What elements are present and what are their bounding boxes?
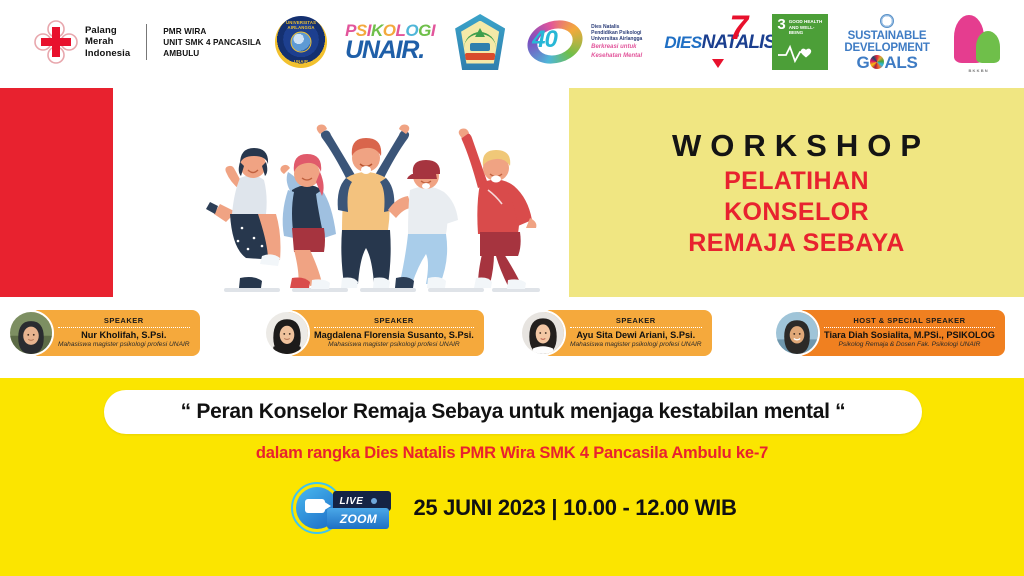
dies-triangle-icon (712, 59, 724, 68)
event-datetime-text: 25 JUNI 2023 | 10.00 - 12.00 WIB (413, 495, 736, 521)
figure-girl-pink-hair (280, 154, 336, 289)
hero-title-panel: WORKSHOP PELATIHAN KONSELOR REMAJA SEBAY… (569, 88, 1024, 297)
dies-natalis-7-logo: 7 DIES NATALIS PMR WIRA SMK 4 PANCASILA … (664, 13, 750, 71)
host-speaker-role: HOST & SPECIAL SPEAKER (853, 316, 965, 325)
avatar-photo-icon (266, 312, 308, 354)
heartbeat-icon (778, 43, 822, 63)
avatar-photo-icon (10, 312, 52, 354)
red-accent-panel (0, 88, 113, 297)
pmi-name-text: Palang Merah Indonesia (85, 25, 130, 60)
theme-quote-box: “ Peran Konselor Remaja Sebaya untuk men… (104, 390, 922, 434)
live-label: LIVE (339, 496, 363, 507)
speaker-card-2: SPEAKER Magdalena Florensia Susanto, S.P… (264, 310, 484, 356)
red-cross-icon (34, 20, 78, 64)
speaker-affiliation-1: Mahasiswa magister psikologi profesi UNA… (58, 341, 190, 349)
sdg-word-line-2: DEVELOPMENT (844, 42, 929, 54)
speaker-avatar-1 (8, 310, 54, 356)
zoom-label-badge: ZOOM (327, 508, 389, 529)
speaker-divider-2 (314, 327, 474, 328)
figure-girl-skirt (206, 148, 281, 288)
cross-horizontal-bar (41, 38, 71, 46)
speaker-role-1: SPEAKER (104, 316, 144, 325)
unair-wordmark: UNAIR. (345, 39, 424, 62)
speaker-divider-1 (58, 327, 190, 328)
sdg-color-wheel-icon (870, 55, 884, 69)
sdg-word-line-3: G ALS (856, 54, 917, 71)
live-zoom-badge: LIVE ZOOM (287, 480, 399, 536)
seal-bottom-text: UNAIR (275, 59, 327, 64)
partner-logo-strip: Palang Merah Indonesia PMR WIRA UNIT SMK… (0, 0, 1024, 84)
event-datetime-bar: LIVE ZOOM 25 JUNI 2023 | 10.00 - 12.00 W… (0, 480, 1024, 536)
forty-script-1: Berkreasi untuk (591, 44, 642, 51)
subtitle-line-3: REMAJA SEBAYA (688, 228, 904, 259)
subtheme-text: dalam rangka Dies Natalis PMR Wira SMK 4… (0, 444, 1024, 463)
sdg-wordmark-logo: SUSTAINABLE DEVELOPMENT G ALS (844, 14, 929, 71)
teenagers-illustration (196, 86, 556, 298)
smk4-pancasila-crest-icon (455, 14, 505, 70)
speaker-info-card-1: SPEAKER Nur Kholifah, S.Psi. Mahasiswa m… (30, 310, 200, 356)
forty-number: 40 (532, 26, 557, 54)
speaker-card-1: SPEAKER Nur Kholifah, S.Psi. Mahasiswa m… (8, 310, 200, 356)
figure-blond-red-hoodie (459, 129, 537, 290)
speaker-name-3: Ayu Sita Dewi Ariani, S.Psi. (576, 330, 695, 341)
sdg-word-line-1: SUSTAINABLE (848, 30, 927, 42)
speaker-card-3: SPEAKER Ayu Sita Dewi Ariani, S.Psi. Mah… (520, 310, 712, 356)
seal-globe-icon (291, 32, 312, 53)
workshop-title: WORKSHOP (672, 126, 930, 166)
speakers-row: SPEAKER Nur Kholifah, S.Psi. Mahasiswa m… (0, 300, 1024, 376)
speaker-name-1: Nur Kholifah, S.Psi. (81, 330, 166, 341)
sdg-goals-g: G (856, 54, 869, 71)
speaker-role-3: SPEAKER (616, 316, 656, 325)
avatar-photo-icon (522, 312, 564, 354)
host-speaker-divider (824, 327, 995, 328)
forty-line-3: Universitas Airlangga (591, 36, 642, 42)
bkkbn-logo: BKKBN (950, 13, 1008, 71)
bkkbn-caption: BKKBN (950, 68, 1008, 73)
speaker-affiliation-3: Mahasiswa magister psikologi profesi UNA… (570, 341, 702, 349)
logo-divider (146, 24, 147, 60)
speaker-avatar-3 (520, 310, 566, 356)
forty-ring-icon: 40 (525, 15, 587, 69)
subtitle-line-1: PELATIHAN (724, 166, 869, 197)
crest-inner-shield (461, 21, 499, 64)
speaker-info-card-3: SPEAKER Ayu Sita Dewi Ariani, S.Psi. Mah… (542, 310, 712, 356)
pmr-unit-text: PMR WIRA UNIT SMK 4 PANCASILA AMBULU (163, 26, 261, 59)
un-emblem-icon (880, 14, 894, 28)
dies-seven-number: 7 (729, 13, 748, 43)
footer-section: “ Peran Konselor Remaja Sebaya untuk men… (0, 378, 1024, 576)
host-speaker-avatar (774, 310, 820, 356)
host-speaker-card: HOST & SPECIAL SPEAKER Tiara Diah Sosial… (774, 310, 1005, 356)
forty-text-block: Dies Natalis Pendidikan Psikologi Univer… (591, 24, 642, 61)
theme-quote-text: “ Peran Konselor Remaja Sebaya untuk men… (181, 400, 846, 424)
crest-arc-text-path (464, 32, 496, 48)
sdg-3-logo: 3 GOOD HEALTH AND WELL-BEING (772, 14, 828, 70)
unair-seal-icon: UNIVERSITAS AIRLANGGA UNAIR (275, 16, 327, 68)
speaker-divider-3 (570, 327, 702, 328)
speaker-name-2: Magdalena Florensia Susanto, S.Psi. (314, 330, 474, 341)
figure-boy-cap (388, 160, 458, 288)
seal-top-text: UNIVERSITAS AIRLANGGA (275, 20, 327, 30)
speaker-avatar-2 (264, 310, 310, 356)
speaker-info-card-2: SPEAKER Magdalena Florensia Susanto, S.P… (286, 310, 484, 356)
bkkbn-green-figure-icon (976, 31, 1000, 63)
forty-script-2: Kesehatan Mental (591, 53, 642, 60)
host-speaker-affiliation: Psikolog Remaja & Dosen Fak. Psikologi U… (839, 341, 981, 349)
dies-natalis-40-logo: 40 Dies Natalis Pendidikan Psikologi Uni… (525, 15, 642, 69)
subtitle-line-2: KONSELOR (724, 197, 869, 228)
speaker-affiliation-2: Mahasiswa magister psikologi profesi UNA… (328, 341, 460, 349)
live-dot-icon (371, 498, 377, 504)
pmi-logo: Palang Merah Indonesia PMR WIRA UNIT SMK… (34, 20, 261, 64)
sdg-goals-als: ALS (884, 54, 917, 71)
crest-ribbon (465, 53, 495, 60)
speaker-role-2: SPEAKER (374, 316, 414, 325)
dies-line-1: DIES (664, 35, 701, 50)
avatar-photo-icon (776, 312, 818, 354)
workshop-poster: Palang Merah Indonesia PMR WIRA UNIT SMK… (0, 0, 1024, 576)
psikologi-unair-logo: PSIKOLOGI UNAIR. (345, 22, 435, 62)
host-speaker-name: Tiara Diah Sosialita, M.PSi., PSIKOLOG (824, 330, 995, 341)
sdg-number: 3 (777, 18, 785, 31)
host-speaker-info-card: HOST & SPECIAL SPEAKER Tiara Diah Sosial… (796, 310, 1005, 356)
video-camera-icon (305, 499, 325, 513)
